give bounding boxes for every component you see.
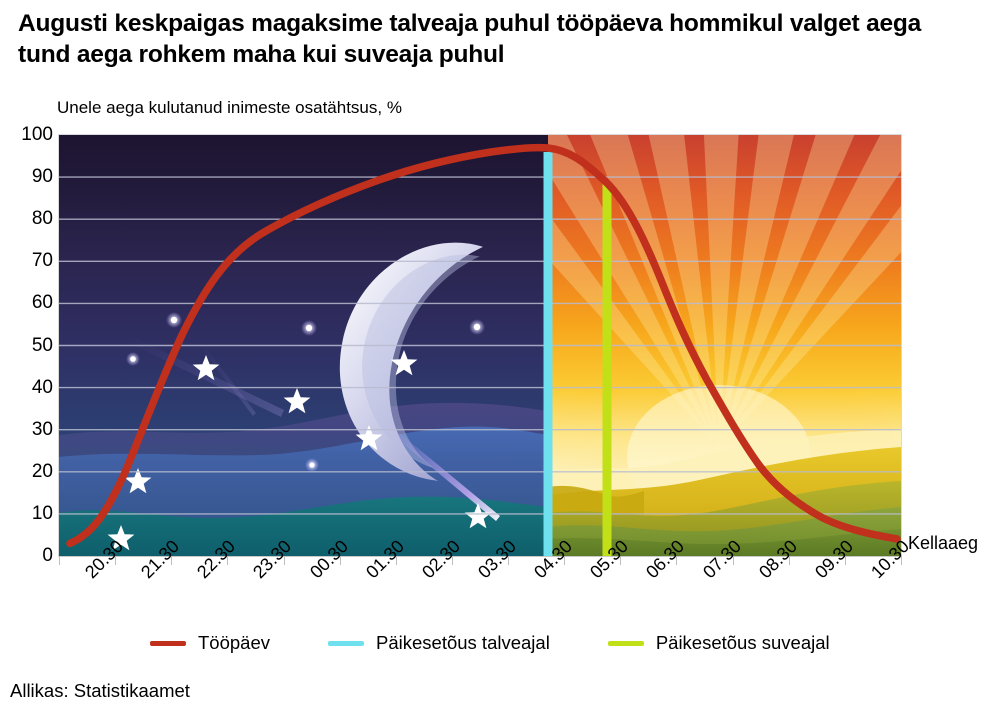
source-note: Allikas: Statistikaamet [10,680,190,702]
page-title: Augusti keskpaigas magaksime talveaja pu… [18,8,978,70]
y-tick-0: 0 [1,545,53,567]
legend-label-summer-sunrise: Päikesetõus suveajal [656,632,830,654]
legend-item-tooepaev[interactable]: Tööpäev [150,632,270,654]
x-axis: 20.3021.3022.3023.3000.3001.3002.3003.30… [59,556,901,616]
y-tick-90: 90 [1,166,53,188]
y-axis: 100 90 80 70 60 50 40 30 20 10 0 [0,135,53,556]
legend-swatch-tooepaev [150,641,186,646]
y-tick-50: 50 [1,335,53,357]
y-tick-30: 30 [1,419,53,441]
chart-legend: Tööpäev Päikesetõus talveajal Päikesetõu… [150,632,830,654]
y-tick-100: 100 [1,124,53,146]
y-tick-10: 10 [1,503,53,525]
y-tick-40: 40 [1,377,53,399]
y-tick-70: 70 [1,250,53,272]
legend-label-tooepaev: Tööpäev [198,632,270,654]
legend-item-summer-sunrise[interactable]: Päikesetõus suveajal [608,632,830,654]
legend-swatch-summer-sunrise [608,641,644,646]
x-axis-title: Kellaaeg [908,533,978,554]
x-tick-mark [59,556,60,565]
chart-subtitle: Unele aega kulutanud inimeste osatähtsus… [57,98,402,118]
y-tick-20: 20 [1,461,53,483]
chart-plot-area [59,135,901,556]
legend-label-winter-sunrise: Päikesetõus talveajal [376,632,550,654]
y-tick-80: 80 [1,208,53,230]
legend-item-winter-sunrise[interactable]: Päikesetõus talveajal [328,632,550,654]
y-tick-60: 60 [1,292,53,314]
legend-swatch-winter-sunrise [328,641,364,646]
